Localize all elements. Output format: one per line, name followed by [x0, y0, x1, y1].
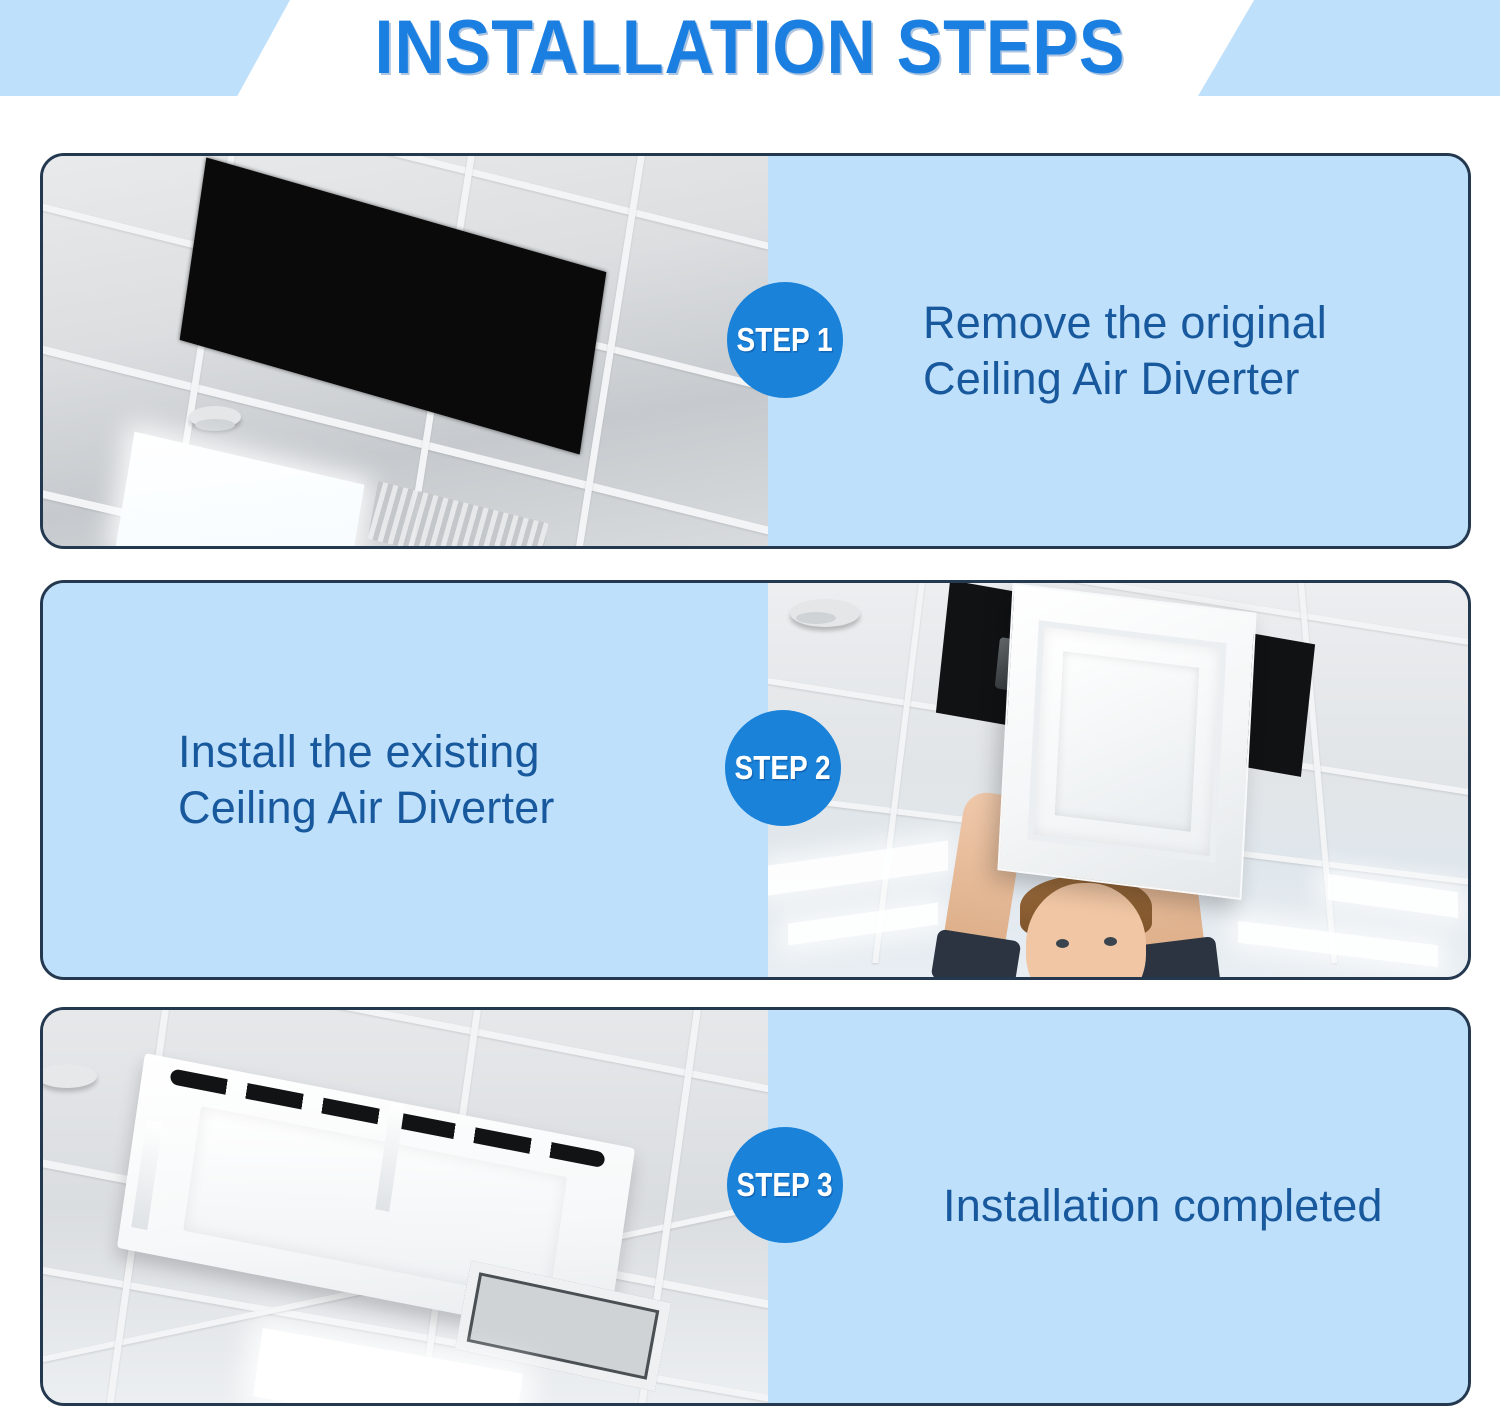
step-1-badge: STEP 1	[727, 282, 843, 398]
diverter-panel-frame	[1027, 620, 1227, 863]
step-2-text-pane: Install the existing Ceiling Air Diverte…	[43, 583, 768, 977]
step-2-description: Install the existing Ceiling Air Diverte…	[43, 724, 555, 837]
step-3-description: Installation completed	[768, 1178, 1383, 1234]
page-header: INSTALLATION STEPS	[0, 0, 1500, 104]
step-1-text-pane: Remove the original Ceiling Air Diverter	[768, 156, 1468, 546]
step-1-description: Remove the original Ceiling Air Diverter	[768, 295, 1327, 408]
step-1-photo	[43, 156, 768, 546]
step-1-badge-label: STEP 1	[737, 321, 833, 359]
step-2-badge: STEP 2	[725, 710, 841, 826]
step-3-photo	[43, 1010, 768, 1403]
installer-eye	[1104, 937, 1117, 946]
step-2-photo	[768, 583, 1468, 977]
step-3-badge-label: STEP 3	[737, 1166, 833, 1204]
step-3-badge: STEP 3	[727, 1127, 843, 1243]
installer-eye	[1056, 939, 1069, 948]
smoke-detector-icon	[790, 599, 860, 627]
air-diverter-panel	[997, 583, 1256, 900]
diverter-panel-center	[1055, 651, 1200, 832]
page-title: INSTALLATION STEPS	[75, 4, 1425, 91]
step-3-text-pane: Installation completed	[768, 1010, 1468, 1403]
smoke-detector-icon	[189, 406, 241, 428]
step-2-badge-label: STEP 2	[735, 749, 831, 787]
